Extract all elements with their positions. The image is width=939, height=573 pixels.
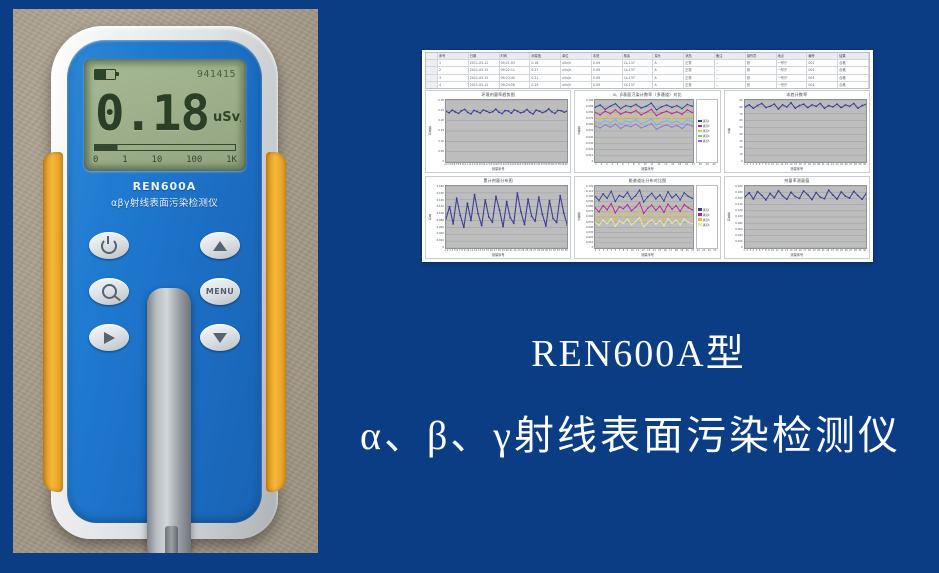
table-cell: 0.09 [592, 75, 623, 81]
chart-y-tick: 0.030 [582, 142, 593, 145]
chart-legend: 通道1通道2通道3通道4 [696, 185, 718, 249]
chart-plot-area [744, 99, 867, 163]
chart-y-tick: 0.100 [732, 215, 743, 218]
lcd-status-bar: 941415 [94, 67, 236, 81]
chart-legend-swatch [698, 135, 702, 138]
chart-y-axis-label: 计数率 [576, 185, 582, 249]
table-cell: uSv/h [561, 67, 592, 73]
chart-panel: 能谱道址分布对比图计数率0.1200.1100.1000.0900.0800.0… [574, 176, 720, 259]
chart-y-tick: 0.040 [732, 234, 743, 237]
chart-legend-item: 通道2 [698, 124, 716, 128]
chart-y-axis-label: 剂量率 [427, 99, 433, 163]
chart-y-tick: 0.020 [433, 239, 444, 242]
chart-y-tick: 0.100 [433, 212, 444, 215]
chart-title: 剂量率测量值 [725, 177, 869, 185]
chart-y-tick: 0.140 [732, 203, 743, 206]
chart-y-tick: 0.200 [732, 185, 743, 188]
chart-legend-item: 通道3 [698, 129, 716, 133]
table-cell: 09:21:03 [500, 60, 531, 66]
search-button[interactable] [89, 278, 129, 305]
chart-body: 剂量率0.300.250.200.150.100.050 [426, 99, 570, 163]
table-row: 32011-05-1209:23:450.21uSv/h0.09Cs-137A正… [426, 75, 869, 82]
table-column-header: 序号 [438, 53, 469, 59]
chart-legend-item: 通道3 [698, 218, 716, 222]
chart-y-tick: 0.20 [433, 119, 444, 122]
lcd-tick: 0 [93, 155, 98, 165]
chart-y-tick: 0.070 [582, 117, 593, 120]
table-cell: -- [715, 67, 746, 73]
chart-y-tick: 40 [732, 133, 743, 136]
chart-y-tick: 0.30 [433, 99, 444, 102]
chart-panel: 本底计数率计数908070605040302010012345678910111… [724, 90, 870, 173]
caption-model-line: REN600A型 [346, 322, 931, 377]
table-cell: 合格 [838, 60, 869, 66]
chart-series-line [595, 114, 692, 120]
table-cell: 09:22:11 [500, 67, 531, 73]
table-cell: A [653, 67, 684, 73]
table-cell: A [653, 82, 684, 88]
chart-y-tick: 0.090 [582, 105, 593, 108]
table-column-header: 测量值 [530, 53, 561, 59]
table-cell: uSv/h [561, 60, 592, 66]
table-cell: uSv/h [561, 75, 592, 81]
chart-y-tick: 0.110 [582, 190, 593, 193]
chart-series-line [595, 190, 692, 202]
table-cell: uSv/h [561, 82, 592, 88]
lcd-value: 0.18 [95, 89, 209, 138]
chart-y-tick: 0.080 [433, 219, 444, 222]
table-row-index [426, 53, 438, 59]
chart-y-tick: 0.120 [732, 209, 743, 212]
triangle-up-icon [213, 241, 227, 251]
table-cell: -- [715, 82, 746, 88]
chart-panel: α、β表面污染计数率（多通道）对比计数率0.1000.0900.0800.070… [574, 90, 720, 173]
chart-legend-item: 通道1 [698, 208, 716, 212]
chart-legend-label: 通道1 [703, 208, 710, 212]
table-column-header: 结果 [838, 53, 869, 59]
chart-series-line [595, 103, 692, 110]
chart-y-tick: 20 [732, 146, 743, 149]
chart-panel: 剂量率测量值剂量率0.2000.1800.1600.1400.1200.1000… [724, 176, 870, 259]
table-column-header: 单位 [561, 53, 592, 59]
chart-x-axis-label: 测量序号 [725, 166, 869, 172]
table-cell: 004 [807, 82, 838, 88]
chart-y-tick: 0.080 [582, 111, 593, 114]
chart-y-tick: 0.070 [582, 210, 593, 213]
chart-x-axis-label: 测量序号 [426, 252, 570, 258]
chart-legend-item: 通道2 [698, 213, 716, 217]
table-row-index [426, 67, 438, 73]
chart-y-tick: 60 [732, 119, 743, 122]
chart-y-tick: 0.020 [732, 240, 743, 243]
table-cell: 2 [438, 67, 469, 73]
table-cell: 003 [807, 75, 838, 81]
chart-title: α、β表面污染计数率（多通道）对比 [575, 91, 719, 99]
chart-title: 环境剂量率趋势图 [426, 91, 570, 99]
chart-y-tick: 0.160 [433, 192, 444, 195]
play-button[interactable] [89, 324, 129, 351]
lcd-counter: 941415 [197, 69, 236, 80]
table-cell: 一号厅 [777, 60, 808, 66]
table-cell: 3 [438, 75, 469, 81]
chart-body: 剂量率0.2000.1800.1600.1400.1200.1000.0800.… [725, 185, 869, 249]
chart-body: 剂量0.1800.1600.1400.1200.1000.0800.0600.0… [426, 185, 570, 249]
data-table: 序号日期时间测量值单位本底核素探头状态备注操作员地点编号结果12011-05-1… [425, 52, 870, 89]
chart-legend-swatch [698, 125, 702, 128]
table-cell: 张 [746, 67, 777, 73]
chart-y-tick: 0.090 [582, 200, 593, 203]
table-row-index [426, 82, 438, 88]
chart-y-tick: 0.040 [582, 136, 593, 139]
chart-body: 计数率0.1200.1100.1000.0900.0800.0700.0600.… [575, 185, 719, 249]
chart-y-tick: 0.060 [433, 226, 444, 229]
table-cell: 0.09 [592, 60, 623, 66]
table-cell: A [653, 60, 684, 66]
chart-y-tick: 0.180 [732, 191, 743, 194]
chart-y-tick: 0.020 [582, 236, 593, 239]
chart-plot-area [594, 185, 693, 249]
table-cell: 0.17 [530, 67, 561, 73]
table-cell: 一号厅 [777, 67, 808, 73]
chart-y-tick: 0.050 [582, 129, 593, 132]
table-cell: 一号厅 [777, 82, 808, 88]
chart-plot-area [445, 185, 568, 249]
chart-legend-label: 通道2 [703, 213, 710, 217]
table-column-header: 备注 [715, 53, 746, 59]
chart-legend-label: 通道3 [703, 218, 710, 222]
table-cell: 0.21 [530, 75, 561, 81]
table-cell: 合格 [838, 67, 869, 73]
chart-y-tick: 80 [732, 106, 743, 109]
table-column-header: 日期 [469, 53, 500, 59]
lcd-scale-ticks: 0 1 10 100 1K [93, 155, 237, 165]
caption-block: REN600A型 α、β、γ射线表面污染检测仪 [330, 322, 931, 461]
chart-y-axis-label: 计数率 [576, 99, 582, 163]
chart-y-ticks: 0.2000.1800.1600.1400.1200.1000.0800.060… [732, 185, 744, 249]
lcd-reading: 0.18 uSv/h [95, 82, 237, 144]
lcd-display: 941415 0.18 uSv/h 0 1 10 100 1K [89, 64, 241, 166]
table-column-header: 核素 [623, 53, 654, 59]
chart-legend-label: 通道4 [703, 134, 710, 138]
triangle-right-icon [104, 332, 115, 344]
chart-y-tick: 0.040 [433, 232, 444, 235]
lcd-tick: 1K [226, 155, 237, 165]
chart-x-axis-label: 测量序号 [575, 166, 719, 172]
table-column-header: 探头 [653, 53, 684, 59]
chart-series-line [745, 103, 866, 109]
lcd-scale-bar [94, 144, 236, 151]
chart-y-axis-label: 剂量 [427, 185, 433, 249]
software-screenshot: 序号日期时间测量值单位本底核素探头状态备注操作员地点编号结果12011-05-1… [422, 50, 873, 262]
chart-x-axis-label: 测量序号 [725, 252, 869, 258]
chart-legend-swatch [698, 208, 702, 211]
chart-y-tick: 70 [732, 113, 743, 116]
menu-button-label: MENU [206, 287, 234, 296]
chart-body: 计数9080706050403020100 [725, 99, 869, 163]
radiation-detector-device: 941415 0.18 uSv/h 0 1 10 100 1K [43, 26, 286, 539]
table-column-header: 状态 [684, 53, 715, 59]
chart-y-ticks: 9080706050403020100 [732, 99, 744, 163]
chart-series-line [446, 193, 567, 227]
table-cell: 0.18 [530, 60, 561, 66]
device-strap-tail [165, 526, 178, 553]
up-button[interactable] [200, 232, 240, 259]
table-cell: 2011-05-12 [469, 60, 500, 66]
chart-body: 计数率0.1000.0900.0800.0700.0600.0500.0400.… [575, 99, 719, 163]
chart-y-tick: 0.25 [433, 109, 444, 112]
chart-plot-area [445, 99, 568, 163]
table-cell: -- [715, 60, 746, 66]
lcd-bezel: 941415 0.18 uSv/h 0 1 10 100 1K [84, 59, 246, 171]
power-icon [101, 238, 117, 254]
device-grip-right [266, 152, 286, 492]
chart-y-tick: 0.080 [582, 205, 593, 208]
table-cell: 2011-05-12 [469, 75, 500, 81]
table-cell: A [653, 75, 684, 81]
chart-y-tick: 0.180 [433, 185, 444, 188]
menu-button[interactable]: MENU [200, 278, 240, 305]
table-cell: 张 [746, 60, 777, 66]
table-column-header: 时间 [500, 53, 531, 59]
chart-y-axis-label: 剂量率 [726, 185, 732, 249]
device-model-label: REN600A [67, 180, 262, 193]
lcd-unit: uSv/h [213, 110, 241, 125]
chart-x-axis-label: 测量序号 [426, 166, 570, 172]
device-hand-strap [147, 288, 191, 553]
table-cell: 2011-05-12 [469, 67, 500, 73]
chart-series-line [595, 119, 692, 125]
table-cell: 正常 [684, 67, 715, 73]
chart-legend-label: 通道3 [703, 129, 710, 133]
chart-y-tick: 0.160 [732, 197, 743, 200]
table-row-index [426, 75, 438, 81]
chart-y-tick: 0.060 [582, 123, 593, 126]
chart-legend-swatch [698, 120, 702, 123]
chart-plot-area [744, 185, 867, 249]
chart-x-axis-label: 测量序号 [575, 252, 719, 258]
chart-y-tick: 0.010 [582, 154, 593, 157]
chart-legend-item: 通道4 [698, 223, 716, 227]
table-cell: 一号厅 [777, 75, 808, 81]
chart-y-ticks: 0.1800.1600.1400.1200.1000.0800.0600.040… [433, 185, 445, 249]
chart-y-ticks: 0.300.250.200.150.100.050 [433, 99, 445, 163]
chart-panel: 累计剂量分布图剂量0.1800.1600.1400.1200.1000.0800… [425, 176, 571, 259]
chart-y-tick: 0.05 [433, 150, 444, 153]
table-cell: 合格 [838, 75, 869, 81]
lcd-tick: 100 [186, 155, 202, 165]
table-cell: 正常 [684, 82, 715, 88]
table-cell: 正常 [684, 75, 715, 81]
table-cell: 合格 [838, 82, 869, 88]
slide-root: 941415 0.18 uSv/h 0 1 10 100 1K [0, 0, 939, 573]
table-column-header: 编号 [807, 53, 838, 59]
chart-legend-swatch [698, 130, 702, 133]
table-cell: Cs-137 [623, 75, 654, 81]
lcd-tick: 10 [151, 155, 162, 165]
chart-legend-item: 通道5 [698, 139, 716, 143]
product-photo: 941415 0.18 uSv/h 0 1 10 100 1K [13, 9, 318, 553]
chart-y-tick: 0.030 [582, 231, 593, 234]
chart-y-tick: 0.15 [433, 129, 444, 132]
table-header-row: 序号日期时间测量值单位本底核素探头状态备注操作员地点编号结果 [426, 53, 869, 60]
chart-y-ticks: 0.1200.1100.1000.0900.0800.0700.0600.050… [582, 185, 594, 249]
triangle-down-icon [213, 333, 227, 343]
chart-y-tick: 0.120 [433, 205, 444, 208]
table-cell: 001 [807, 60, 838, 66]
chart-y-tick: 90 [732, 99, 743, 102]
chart-y-tick: 10 [732, 153, 743, 156]
chart-title: 本底计数率 [725, 91, 869, 99]
chart-y-tick: 0.10 [433, 140, 444, 143]
chart-y-axis-label: 计数 [726, 99, 732, 163]
chart-legend-item: 通道4 [698, 134, 716, 138]
chart-legend: 通道1通道2通道3通道4通道5 [696, 99, 718, 163]
chart-legend-label: 通道2 [703, 124, 710, 128]
power-button[interactable] [89, 232, 129, 259]
table-cell: 09:23:45 [500, 75, 531, 81]
chart-y-tick: 0.060 [732, 228, 743, 231]
chart-legend-item: 通道1 [698, 119, 716, 123]
chart-y-tick: 0.100 [582, 195, 593, 198]
chart-legend-swatch [698, 223, 702, 226]
table-cell: 4 [438, 82, 469, 88]
table-row-index [426, 60, 438, 66]
table-cell: Cs-137 [623, 82, 654, 88]
chart-y-tick: 0.120 [582, 185, 593, 188]
device-grip-left [43, 152, 63, 492]
table-row: 22011-05-1209:22:110.17uSv/h0.09Cs-137A正… [426, 67, 869, 74]
chart-y-tick: 0.040 [582, 226, 593, 229]
chart-y-tick: 0.060 [582, 215, 593, 218]
chart-legend-swatch [698, 218, 702, 221]
table-cell: 张 [746, 75, 777, 81]
table-cell: 正常 [684, 60, 715, 66]
chart-y-tick: 0.100 [582, 99, 593, 102]
table-cell: 002 [807, 67, 838, 73]
chart-series-line [595, 124, 692, 130]
chart-legend-swatch [698, 213, 702, 216]
chart-y-tick: 0.080 [732, 222, 743, 225]
caption-description-line: α、β、γ射线表面污染检测仪 [330, 403, 931, 461]
table-column-header: 操作员 [746, 53, 777, 59]
chart-legend-label: 通道4 [703, 223, 710, 227]
chart-y-tick: 0.010 [582, 241, 593, 244]
table-cell: 1 [438, 60, 469, 66]
chart-y-ticks: 0.1000.0900.0800.0700.0600.0500.0400.030… [582, 99, 594, 163]
chart-legend-swatch [698, 140, 702, 143]
down-button[interactable] [200, 324, 240, 351]
chart-plot-area [594, 99, 693, 163]
chart-legend-label: 通道1 [703, 119, 710, 123]
chart-y-tick: 0.050 [582, 221, 593, 224]
charts-grid: 环境剂量率趋势图剂量率0.300.250.200.150.100.0501234… [425, 90, 870, 259]
chart-y-tick: 0.140 [433, 199, 444, 202]
battery-icon [94, 69, 116, 80]
chart-title: 能谱道址分布对比图 [575, 177, 719, 185]
device-branding: REN600A αβγ射线表面污染检测仪 [67, 180, 262, 209]
chart-y-tick: 0.020 [582, 148, 593, 151]
table-cell: 2011-05-12 [469, 82, 500, 88]
table-column-header: 地点 [777, 53, 808, 59]
magnifier-icon [102, 284, 117, 299]
chart-panel: 环境剂量率趋势图剂量率0.300.250.200.150.100.0501234… [425, 90, 571, 173]
chart-legend-label: 通道5 [703, 139, 710, 143]
table-column-header: 本底 [592, 53, 623, 59]
table-cell: 09:24:58 [500, 82, 531, 88]
chart-y-tick: 30 [732, 140, 743, 143]
table-cell: 0.09 [592, 82, 623, 88]
table-cell: 0.19 [530, 82, 561, 88]
device-description-label: αβγ射线表面污染检测仪 [67, 195, 262, 209]
table-row: 12011-05-1209:21:030.18uSv/h0.09Cs-137A正… [426, 60, 869, 67]
table-cell: 张 [746, 82, 777, 88]
table-cell: Cs-137 [623, 60, 654, 66]
lcd-tick: 1 [122, 155, 127, 165]
table-cell: -- [715, 75, 746, 81]
chart-title: 累计剂量分布图 [426, 177, 570, 185]
table-cell: Cs-137 [623, 67, 654, 73]
chart-y-tick: 50 [732, 126, 743, 129]
table-cell: 0.09 [592, 67, 623, 73]
table-row: 42011-05-1209:24:580.19uSv/h0.09Cs-137A正… [426, 82, 869, 88]
